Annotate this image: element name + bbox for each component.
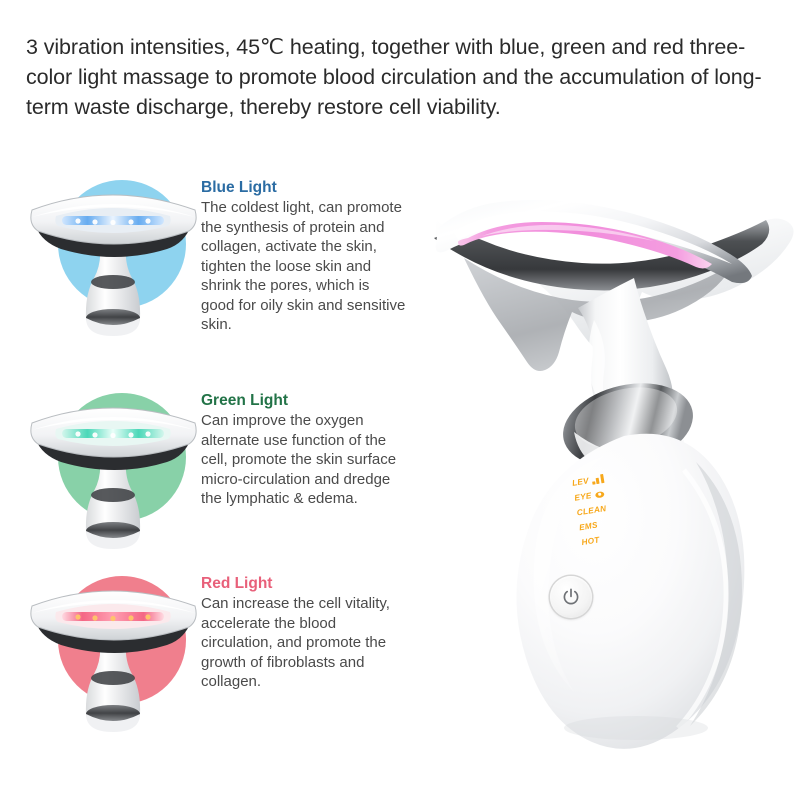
page-headline: 3 vibration intensities, 45℃ heating, to… (26, 32, 768, 122)
eye-icon (595, 491, 605, 498)
feature-title-red-light: Red Light (201, 574, 440, 593)
feature-body-blue-light: The coldest light, can promote the synth… (201, 198, 406, 335)
feature-title-green-light: Green Light (201, 391, 440, 410)
indicator-label-lev: LEV (571, 476, 589, 488)
product-illustration (428, 180, 800, 752)
feature-row-blue-light: Blue Light The coldest light, can promot… (0, 172, 450, 342)
feature-body-green-light: Can improve the oxygen alternate use fun… (201, 411, 406, 509)
feature-row-green-light: Green Light Can improve the oxygen alter… (0, 385, 450, 555)
mini-device-illustration-green (26, 385, 201, 555)
feature-title-blue-light: Blue Light (201, 178, 440, 197)
feature-text-red-light: Red Light Can increase the cell vitality… (201, 568, 450, 692)
indicator-label-hot: HOT (581, 535, 600, 547)
thumbnail-green-light (26, 385, 201, 555)
level-bars-icon (591, 474, 604, 485)
thumbnail-blue-light (26, 172, 201, 342)
power-button[interactable] (550, 576, 592, 618)
mini-device-illustration-red (26, 568, 201, 738)
feature-body-red-light: Can increase the cell vitality, accelera… (201, 594, 406, 692)
indicator-label-clean: CLEAN (576, 504, 607, 518)
feature-text-green-light: Green Light Can improve the oxygen alter… (201, 385, 450, 509)
feature-text-blue-light: Blue Light The coldest light, can promot… (201, 172, 450, 335)
indicator-label-ems: EMS (579, 520, 599, 532)
indicator-label-eye: EYE (574, 491, 592, 503)
feature-row-red-light: Red Light Can increase the cell vitality… (0, 568, 450, 738)
mini-device-illustration-blue (26, 172, 201, 342)
product-photo: LEV EYE CLEAN EMS HOT (428, 180, 800, 752)
thumbnail-red-light (26, 568, 201, 738)
power-icon (561, 587, 581, 607)
